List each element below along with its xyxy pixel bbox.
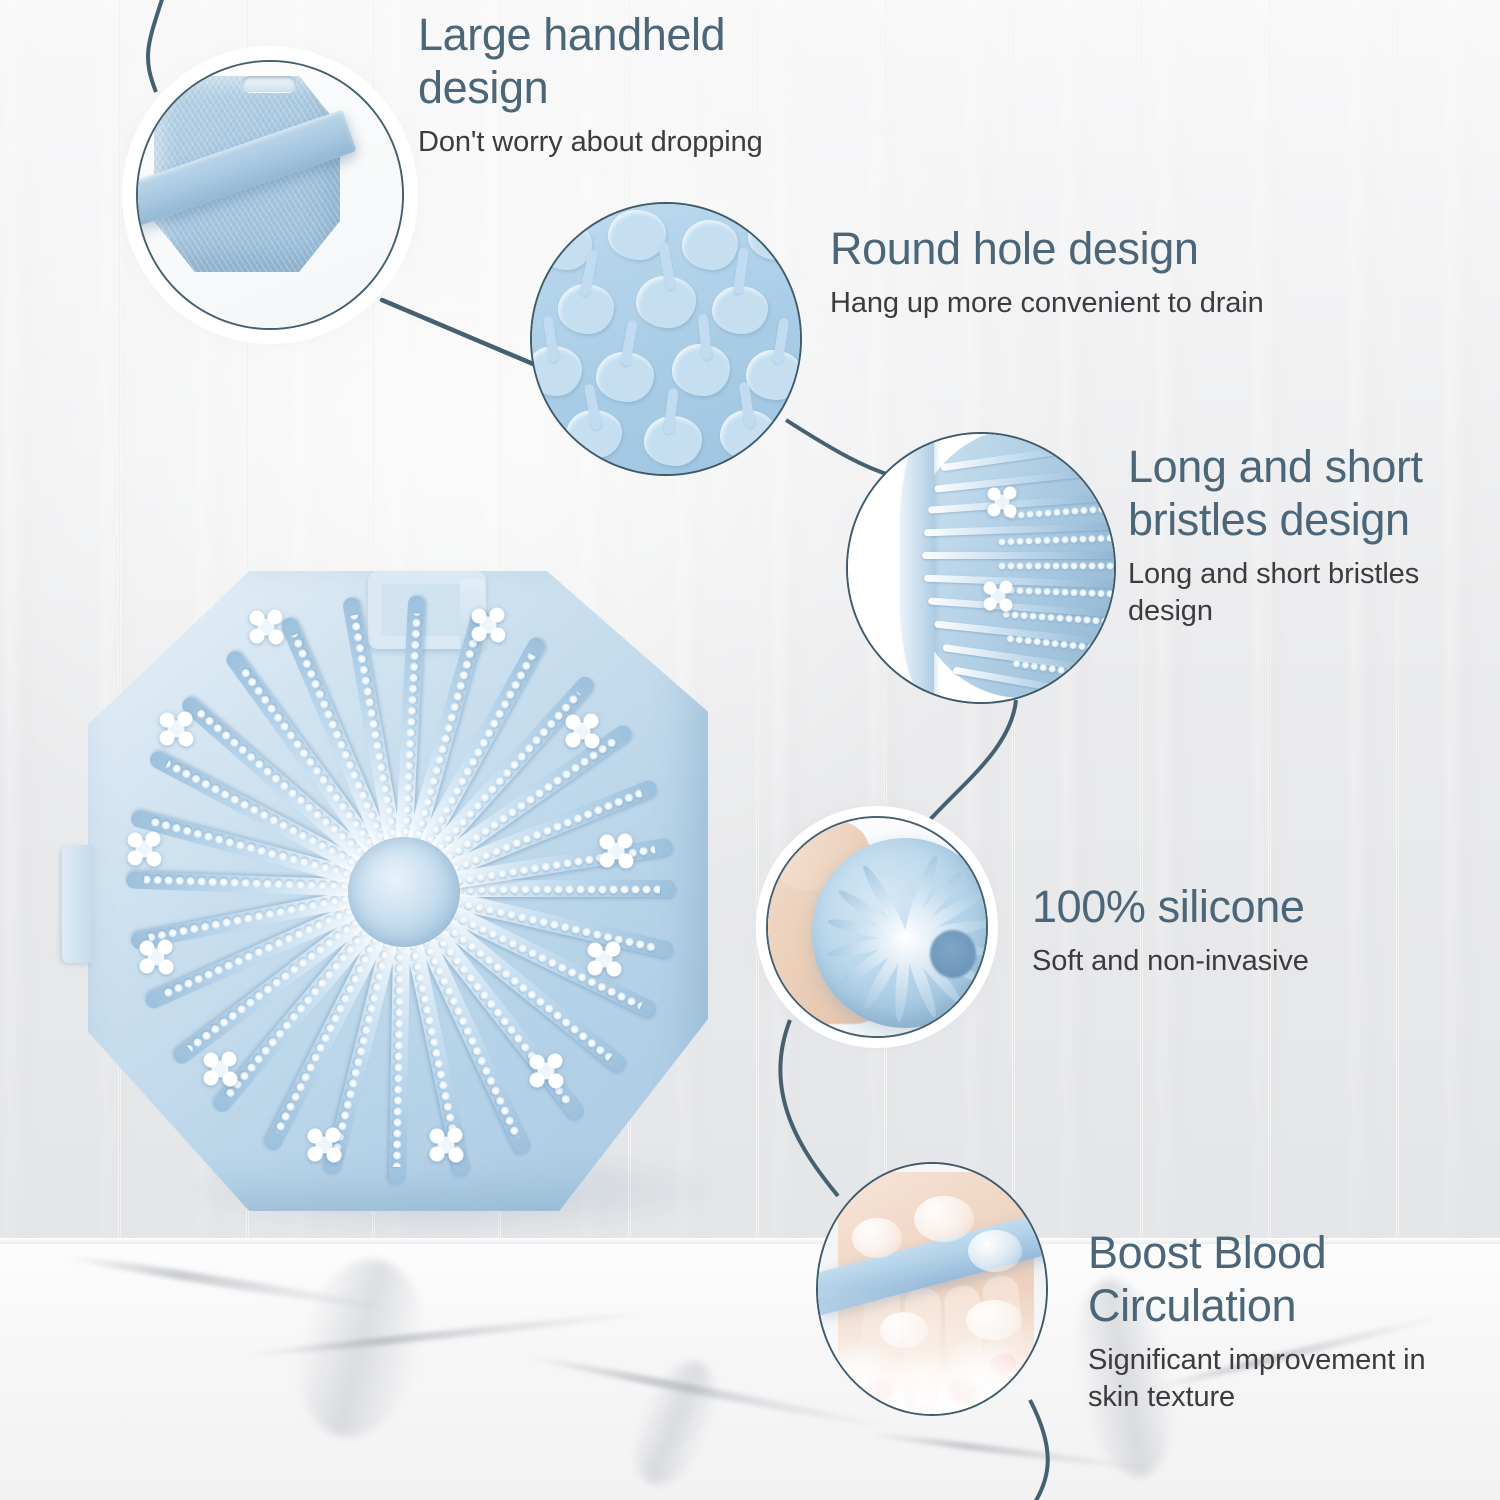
feature-title: Round hole design (830, 222, 1300, 275)
callout-image-round-hole-design (530, 202, 802, 476)
hole-blob (748, 212, 802, 260)
callout-image-100-percent-silicone (766, 816, 988, 1038)
flower-bristle-cluster (126, 831, 166, 867)
foam-bubble (852, 1218, 902, 1258)
flower-bristle-cluster (470, 607, 510, 643)
feature-title: Boost BloodCirculation (1088, 1226, 1468, 1332)
feature-text-100-percent-silicone: 100% silicone Soft and non-invasive (1032, 880, 1362, 980)
soap-foam (818, 1284, 1046, 1414)
hole-blob (538, 222, 592, 270)
feature-subtitle: Don't worry about dropping (418, 124, 848, 161)
feature-subtitle: Hang up more convenient to drain (830, 285, 1300, 322)
flower-bristle-cluster (202, 1051, 242, 1087)
flower-bristle-cluster (158, 711, 198, 747)
foam-bubble (968, 1230, 1022, 1272)
feature-title: 100% silicone (1032, 880, 1362, 933)
flower-bristle-cluster (564, 713, 604, 749)
flower-bristle-cluster (138, 939, 178, 975)
flexed-brush (812, 838, 988, 1028)
feature-subtitle: Significant improvement inskin texture (1088, 1342, 1468, 1416)
flower-bristle-cluster (306, 1127, 346, 1163)
hang-hole (242, 76, 296, 92)
feature-title: Long and shortbristles design (1128, 440, 1478, 546)
flower-bristle-cluster (248, 609, 288, 645)
callout-image-large-handheld-design (136, 60, 404, 330)
flower-bristle-cluster (586, 941, 626, 977)
flower-bristle-cluster (428, 1127, 468, 1163)
product-center-hub (348, 837, 460, 947)
product-bristle-disc (112, 589, 692, 1189)
hole-blob (608, 210, 666, 260)
feature-text-long-and-short-bristles: Long and shortbristles design Long and s… (1128, 440, 1478, 630)
brush-center-fold (930, 930, 976, 978)
callout-image-boost-blood-circulation (816, 1162, 1048, 1416)
foam-bubble (880, 1312, 928, 1348)
long-bristle (922, 552, 1116, 559)
feature-text-round-hole-design: Round hole design Hang up more convenien… (830, 222, 1300, 322)
flower-bristle-cluster (598, 833, 638, 869)
main-product-image (60, 545, 780, 1245)
feature-title: Large handhelddesign (418, 8, 848, 114)
flower-bristle-cluster (986, 486, 1022, 518)
flower-bristle-cluster (982, 580, 1018, 612)
feature-subtitle: Soft and non-invasive (1032, 943, 1362, 980)
feature-text-boost-blood-circulation: Boost BloodCirculation Significant impro… (1088, 1226, 1468, 1416)
callout-image-long-and-short-bristles (846, 432, 1116, 704)
short-bristle-beads (998, 562, 1116, 571)
foam-bubble (966, 1300, 1022, 1340)
feature-subtitle: Long and short bristlesdesign (1128, 556, 1478, 630)
infographic-canvas: Large handhelddesign Don't worry about d… (0, 0, 1500, 1500)
foam-bubble (914, 1196, 974, 1242)
feature-text-large-handheld-design: Large handhelddesign Don't worry about d… (418, 8, 848, 161)
hole-blob (682, 220, 738, 270)
product-side-clip (62, 845, 94, 963)
flower-bristle-cluster (528, 1053, 568, 1089)
